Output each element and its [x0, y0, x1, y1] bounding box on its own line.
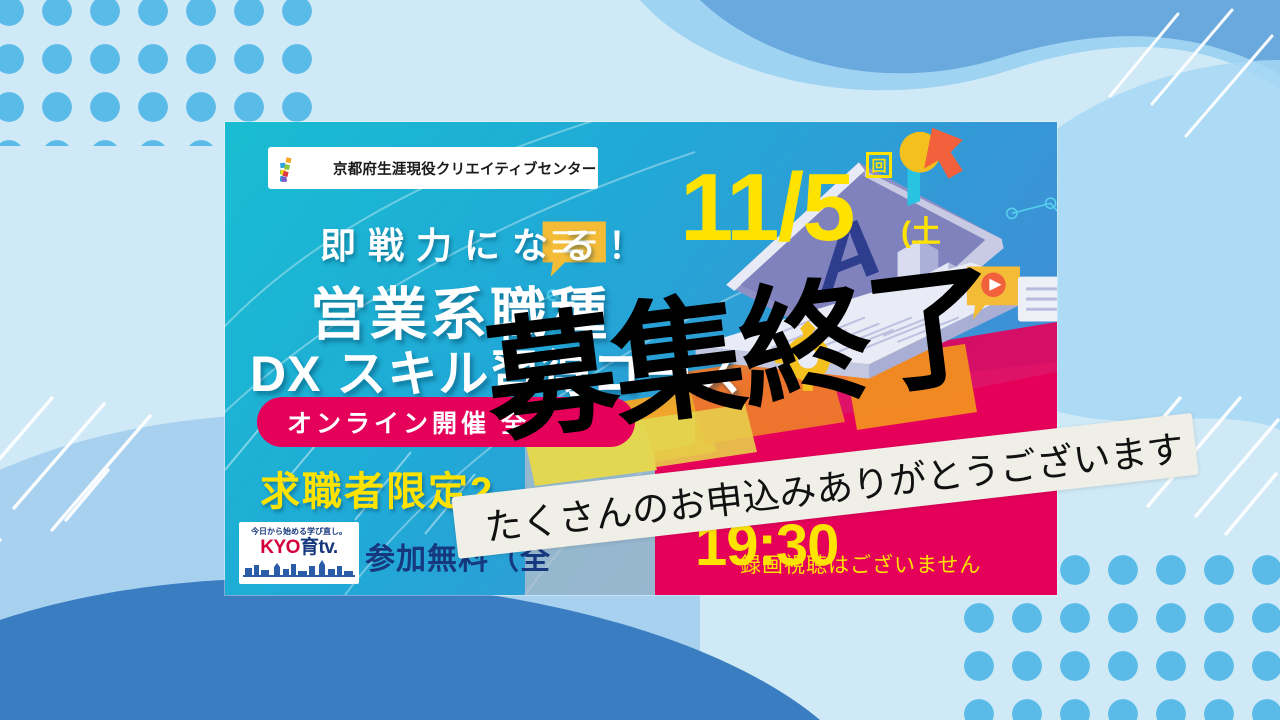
fan-palette-icon: [280, 154, 324, 182]
event-date: 11/5: [680, 160, 854, 256]
city-skyline-icon: [243, 559, 355, 577]
kyo-logo-iku: 育tv.: [300, 537, 338, 558]
headline-line-1: 即戦力になる！: [320, 217, 656, 269]
event-day-of-week: (土: [901, 207, 941, 251]
kyo-iku-tv-logo: 今日から始める学び直し。 KYO育tv.: [239, 522, 359, 584]
kyo-logo-tagline: 今日から始める学び直し。: [251, 526, 347, 537]
recording-note: 録画視聴はございません: [740, 549, 981, 579]
organization-name: 京都府生涯現役クリエイティブセンター: [333, 158, 596, 179]
organization-badge: 京都府生涯現役クリエイティブセンター: [268, 147, 598, 189]
kyo-logo-wordmark: KYO育tv.: [260, 538, 337, 557]
round-badge: 回: [866, 152, 892, 178]
kyo-logo-kyo: KYO: [260, 537, 300, 558]
